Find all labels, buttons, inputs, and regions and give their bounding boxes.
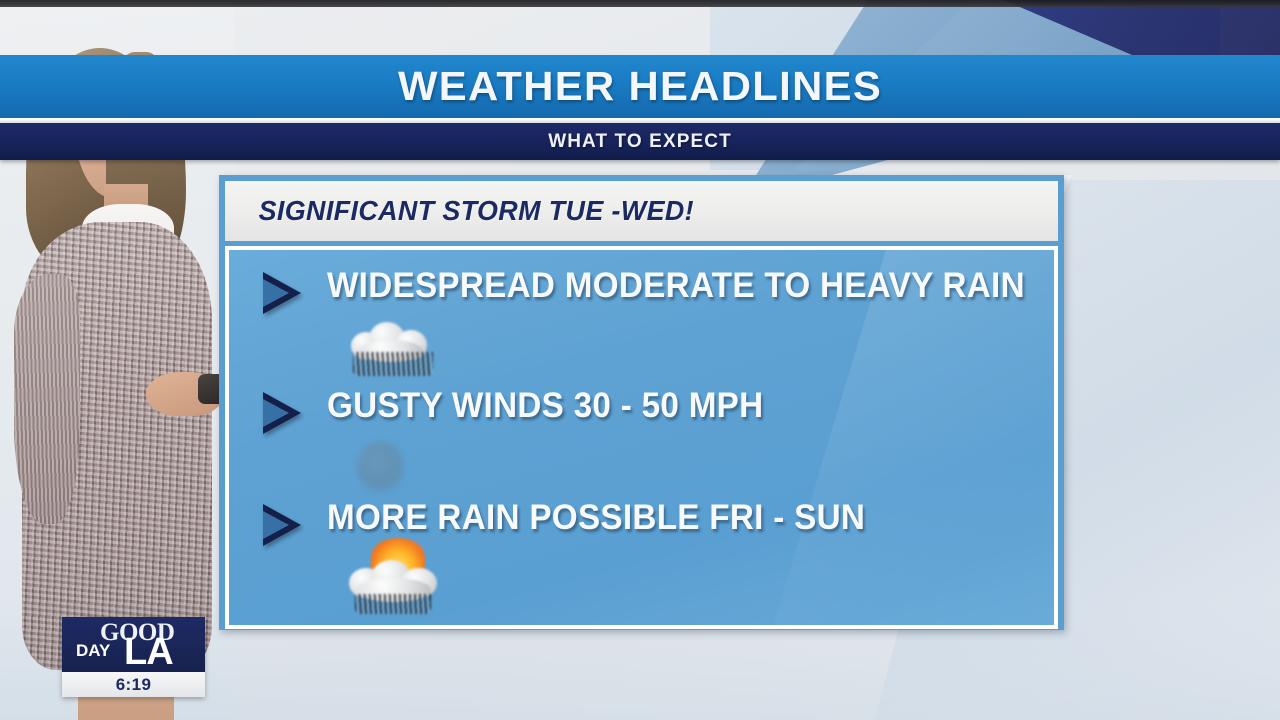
panel-title-text: SIGNIFICANT STORM TUE -WED! (235, 195, 694, 227)
top-edge-strip (0, 0, 1280, 7)
bullet-text-2: GUSTY WINDS 30 - 50 MPH (327, 386, 763, 426)
play-triangle-icon (263, 392, 301, 434)
play-triangle-icon (263, 504, 301, 546)
broadcast-stage: WEATHER HEADLINES WHAT TO EXPECT SIGNIFI… (0, 0, 1280, 720)
good-day-la-logo: GOOD DAY LA (62, 617, 205, 672)
weather-headlines-panel: SIGNIFICANT STORM TUE -WED! WIDESPREAD M… (219, 175, 1064, 630)
station-logo-bug: GOOD DAY LA 6:19 (62, 617, 205, 697)
sun-behind-rain-cloud-icon (347, 538, 451, 614)
panel-title-bar: SIGNIFICANT STORM TUE -WED! (225, 181, 1058, 241)
headline-banner: WEATHER HEADLINES (0, 55, 1280, 118)
presenter-arm (14, 274, 80, 524)
rain-cloud-icon (347, 318, 439, 376)
logo-word-day: DAY (76, 641, 110, 661)
bullet-text-3: MORE RAIN POSSIBLE FRI - SUN (327, 498, 865, 538)
logo-word-la: LA (124, 633, 173, 671)
subheadline-banner: WHAT TO EXPECT (0, 123, 1280, 160)
panel-body: WIDESPREAD MODERATE TO HEAVY RAIN GUSTY … (225, 246, 1058, 629)
bullet-text-1: WIDESPREAD MODERATE TO HEAVY RAIN (327, 266, 1025, 306)
on-screen-clock: 6:19 (62, 672, 205, 697)
wind-smudge-icon (347, 438, 417, 498)
subheadline-title: WHAT TO EXPECT (0, 123, 1280, 160)
headline-title: WEATHER HEADLINES (0, 55, 1280, 118)
play-triangle-icon (263, 272, 301, 314)
